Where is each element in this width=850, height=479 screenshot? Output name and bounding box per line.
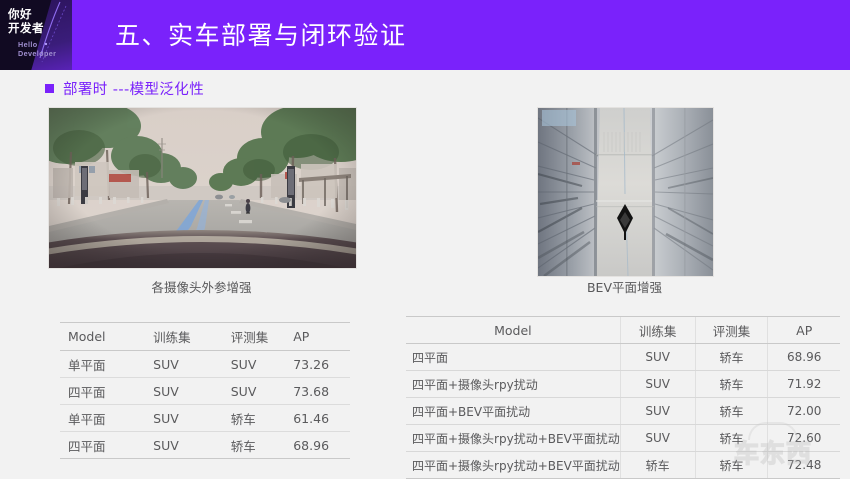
section-heading: 部署时 ---模型泛化性: [45, 78, 204, 99]
left-header-evalset: 评测集: [231, 323, 294, 351]
cell-trainset: SUV: [620, 371, 695, 398]
cell-evalset: SUV: [231, 351, 294, 378]
figure-camera-extrinsic-augmentation: [48, 107, 357, 269]
logo-text-cn-line1: 你好: [8, 9, 44, 23]
cell-trainset: SUV: [620, 425, 695, 452]
cell-evalset: SUV: [231, 378, 294, 405]
cell-ap: 73.68: [293, 378, 350, 405]
cell-model: 四平面+BEV平面扰动: [406, 398, 620, 425]
right-header-model: Model: [406, 317, 620, 344]
cell-evalset: 轿车: [695, 344, 768, 371]
logo-text-cn-line2: 开发者: [8, 23, 44, 37]
right-header-trainset: 训练集: [620, 317, 695, 344]
left-header-model: Model: [60, 323, 153, 351]
table-row: 单平面 SUV 轿车 61.46: [60, 405, 350, 432]
table-row: 四平面+BEV平面扰动 SUV 轿车 72.00: [406, 398, 840, 425]
left-header-ap: AP: [293, 323, 350, 351]
right-header-ap: AP: [768, 317, 840, 344]
cell-model: 四平面+摄像头rpy扰动+BEV平面扰动: [406, 425, 620, 452]
logo-text-cn: 你好 开发者: [8, 9, 44, 36]
cell-trainset: SUV: [620, 398, 695, 425]
table-row: 四平面 SUV SUV 73.68: [60, 378, 350, 405]
right-table-body: Model 训练集 评测集 AP 四平面 SUV 轿车 68.96 四平面+摄像…: [406, 317, 840, 479]
cell-model: 四平面: [406, 344, 620, 371]
logo-text-en-line1: Hello: [18, 40, 56, 49]
logo-text-en: Hello Developer: [18, 40, 56, 58]
cell-ap: 71.92: [768, 371, 840, 398]
cell-model: 单平面: [60, 351, 153, 378]
left-table-body: Model 训练集 评测集 AP 单平面 SUV SUV 73.26 四平面 S…: [60, 323, 350, 459]
cell-evalset: 轿车: [695, 398, 768, 425]
table-row: 四平面+摄像头rpy扰动+BEV平面扰动 轿车 轿车 72.48: [406, 452, 840, 479]
left-header-trainset: 训练集: [153, 323, 231, 351]
table-bev-augmentation-ablation: Model 训练集 评测集 AP 四平面 SUV 轿车 68.96 四平面+摄像…: [406, 316, 840, 479]
right-table-header-row: Model 训练集 评测集 AP: [406, 317, 840, 344]
cell-trainset: 轿车: [620, 452, 695, 479]
left-table-header-row: Model 训练集 评测集 AP: [60, 323, 350, 351]
cell-evalset: 轿车: [231, 405, 294, 432]
table-row: 四平面 SUV 轿车 68.96: [406, 344, 840, 371]
figure-right-caption: BEV平面增强: [537, 277, 712, 296]
figure-bev-plane-augmentation: [537, 107, 714, 277]
table-row: 单平面 SUV SUV 73.26: [60, 351, 350, 378]
cell-evalset: 轿车: [231, 432, 294, 459]
brand-logo: 你好 开发者 Hello Developer: [0, 0, 72, 70]
cell-ap: 61.46: [293, 405, 350, 432]
cell-trainset: SUV: [153, 378, 231, 405]
cell-ap: 68.96: [293, 432, 350, 459]
cell-trainset: SUV: [153, 351, 231, 378]
fisheye-road-image: [49, 108, 356, 268]
cell-evalset: 轿车: [695, 452, 768, 479]
cell-ap: 72.60: [768, 425, 840, 452]
cell-trainset: SUV: [153, 405, 231, 432]
cell-model: 四平面: [60, 378, 153, 405]
cell-model: 单平面: [60, 405, 153, 432]
table-row: 四平面+摄像头rpy扰动+BEV平面扰动 SUV 轿车 72.60: [406, 425, 840, 452]
cell-evalset: 轿车: [695, 425, 768, 452]
cell-model: 四平面: [60, 432, 153, 459]
slide-title: 五、实车部署与闭环验证: [115, 16, 407, 52]
figure-left-caption: 各摄像头外参增强: [48, 277, 355, 296]
table-extrinsic-generalization: Model 训练集 评测集 AP 单平面 SUV SUV 73.26 四平面 S…: [60, 322, 350, 459]
cell-model: 四平面+摄像头rpy扰动: [406, 371, 620, 398]
cell-trainset: SUV: [153, 432, 231, 459]
logo-text-en-line2: Developer: [18, 49, 56, 58]
cell-ap: 73.26: [293, 351, 350, 378]
table-row: 四平面 SUV 轿车 68.96: [60, 432, 350, 459]
cell-ap: 72.00: [768, 398, 840, 425]
header-bar: 你好 开发者 Hello Developer 五、实车部署与闭环验证: [0, 0, 850, 70]
table-row: 四平面+摄像头rpy扰动 SUV 轿车 71.92: [406, 371, 840, 398]
cell-evalset: 轿车: [695, 371, 768, 398]
right-header-evalset: 评测集: [695, 317, 768, 344]
cell-trainset: SUV: [620, 344, 695, 371]
cell-ap: 68.96: [768, 344, 840, 371]
section-bullet-icon: [45, 84, 54, 93]
section-heading-label: 部署时 ---模型泛化性: [63, 78, 204, 99]
cell-model: 四平面+摄像头rpy扰动+BEV平面扰动: [406, 452, 620, 479]
cell-ap: 72.48: [768, 452, 840, 479]
bev-image: [538, 108, 713, 276]
